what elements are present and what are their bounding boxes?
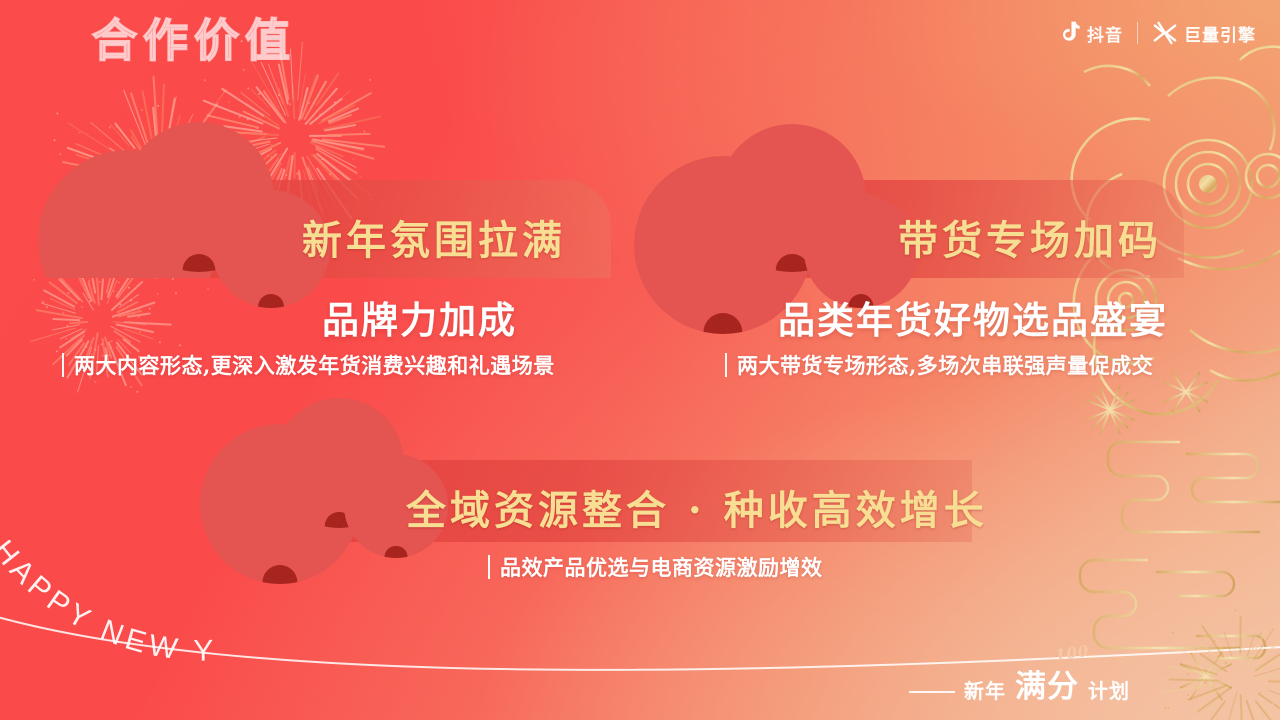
firework-ray	[75, 153, 117, 168]
firework-speck	[296, 173, 298, 175]
firework-speck	[1225, 662, 1227, 664]
firework-speck	[130, 299, 132, 301]
firework-speck	[213, 139, 215, 141]
firework-ray	[111, 301, 155, 317]
firework-ray	[240, 92, 270, 117]
firework-speck	[289, 103, 291, 105]
firework-ray	[83, 293, 95, 311]
firework-ray	[222, 131, 268, 135]
firework-speck	[179, 344, 181, 346]
firework-speck	[175, 292, 177, 294]
firework-speck	[235, 151, 237, 153]
firework-ray	[107, 279, 118, 304]
firework-speck	[1261, 610, 1263, 612]
firework-ray	[1258, 649, 1280, 671]
firework-ray	[293, 152, 295, 179]
firework-speck	[207, 288, 209, 290]
firework-speck	[117, 163, 119, 165]
firework-ray	[165, 97, 176, 148]
firework-ray	[1168, 665, 1216, 677]
firework-ray	[324, 141, 365, 152]
firework-ray	[1254, 628, 1274, 658]
firework-ray	[1205, 702, 1228, 720]
firework-ray	[257, 153, 277, 173]
firework-speck	[226, 167, 228, 169]
firework-speck	[1234, 610, 1236, 612]
firework-ray	[1268, 680, 1280, 682]
firework-ray	[1258, 693, 1280, 720]
firework-speck	[88, 280, 90, 282]
firework-ray	[182, 88, 227, 150]
page-title: 合作价值	[92, 12, 296, 70]
firework-ray	[68, 122, 125, 159]
firework-ray	[181, 123, 212, 157]
firework-ray	[109, 147, 139, 167]
firework-speck	[1272, 703, 1274, 705]
firework-ray	[1187, 685, 1228, 702]
firework-ray	[178, 114, 194, 144]
firework-ray	[110, 326, 140, 343]
firework-speck	[79, 132, 81, 134]
firework-ray	[305, 75, 317, 104]
firework-speck	[1272, 675, 1274, 677]
firework-ray	[223, 125, 263, 133]
firework-speck	[54, 139, 56, 141]
subtitle-text: 两大带货专场形态,多场次串联强声量促成交	[737, 350, 1153, 380]
firework-ray	[1197, 700, 1226, 720]
firework-speck	[101, 343, 103, 345]
firework-speck	[278, 94, 280, 96]
firework-ray	[1242, 708, 1247, 720]
logo-prefix: 新年	[964, 675, 1006, 704]
firework-speck	[67, 292, 69, 294]
ocean-engine-icon	[1152, 21, 1178, 45]
firework-ray	[242, 110, 280, 130]
firework-speck	[1213, 640, 1215, 642]
firework-speck	[204, 79, 206, 81]
firework-ray	[1246, 699, 1264, 720]
firework-ray	[1205, 698, 1222, 714]
firework-ray	[185, 103, 219, 148]
firework-ray	[70, 321, 89, 324]
firework-ray	[43, 289, 75, 308]
firework-ray	[297, 42, 303, 101]
firework-speck	[136, 391, 138, 393]
firework-speck	[1161, 693, 1163, 695]
firework-speck	[228, 101, 230, 103]
firework-ray	[248, 133, 279, 136]
firework-ray	[250, 88, 269, 108]
firework-ray	[189, 145, 244, 169]
firework-speck	[247, 119, 249, 121]
firework-speck	[56, 350, 58, 352]
firework-speck	[157, 137, 159, 139]
firework-ray	[315, 72, 339, 106]
firework-ray	[1241, 635, 1247, 664]
card-subtitle: 两大带货专场形态,多场次串联强声量促成交	[725, 350, 1153, 380]
firework-speck	[286, 174, 288, 176]
firework-ray	[169, 131, 182, 159]
ocean-engine-logo: 巨量引擎	[1152, 21, 1256, 46]
firework-ray	[216, 140, 271, 154]
firework-speck	[130, 386, 132, 388]
firework-speck	[1167, 707, 1169, 709]
firework-ray	[310, 81, 327, 109]
firework-speck	[128, 287, 130, 289]
firework-speck	[137, 308, 139, 310]
firework-ray	[70, 328, 87, 339]
firework-speck	[267, 155, 269, 157]
firework-speck	[56, 113, 58, 115]
firework-ray	[1239, 694, 1243, 720]
firework-speck	[99, 281, 101, 283]
firework-speck	[334, 101, 336, 103]
firework-speck	[42, 301, 44, 303]
firework-speck	[141, 109, 143, 111]
firework-speck	[109, 126, 111, 128]
firework-ray	[1199, 685, 1230, 700]
auspicious-cloud-icon	[1080, 442, 1280, 658]
firework-speck	[359, 176, 361, 178]
firework-speck	[335, 120, 337, 122]
firework-speck	[270, 156, 272, 158]
logo-main: 满分 100	[1015, 661, 1079, 706]
firework-speck	[352, 158, 354, 160]
firework-speck	[33, 279, 35, 281]
firework-ray	[1253, 705, 1273, 720]
firework-speck	[1181, 626, 1183, 628]
firework-speck	[1164, 707, 1166, 709]
firework-speck	[1233, 655, 1235, 657]
firework-ray	[41, 303, 76, 314]
firework-ray	[1268, 690, 1280, 701]
firework-speck	[271, 144, 273, 146]
firework-ray	[75, 143, 122, 164]
firework-ray	[315, 146, 356, 168]
firework-speck	[1170, 704, 1172, 706]
firework-ray	[224, 137, 277, 145]
firework-ray	[203, 99, 264, 125]
firework-ray	[219, 143, 270, 161]
firework-speck	[81, 306, 83, 308]
firework-ray	[210, 103, 262, 123]
fan-hub	[108, 308, 148, 330]
firework-ray	[189, 136, 234, 164]
logo-100-badge: 100	[1054, 642, 1090, 665]
firework-ray	[35, 309, 83, 320]
ocean-engine-label: 巨量引擎	[1184, 21, 1256, 46]
firework-speck	[113, 290, 115, 292]
firework-ray	[130, 92, 149, 146]
firework-ray	[1207, 624, 1232, 667]
firework-ray	[1224, 691, 1238, 720]
firework-ray	[174, 145, 203, 169]
firework-speck	[263, 99, 265, 101]
firework-speck	[133, 314, 135, 316]
firework-ray	[312, 138, 365, 150]
firework-ray	[60, 328, 83, 339]
firework-ray	[255, 86, 285, 123]
firework-ray	[1259, 701, 1280, 720]
slide-canvas: 合作价值 抖音 巨量引擎 新年氛围拉满 品牌力加成	[0, 0, 1280, 720]
firework-ray	[309, 135, 342, 137]
firework-speck	[65, 338, 67, 340]
firework-ray	[53, 324, 80, 330]
firework-ray	[123, 328, 153, 339]
firework-ray	[237, 137, 276, 143]
douyin-note-icon	[1059, 21, 1081, 45]
firework-speck	[68, 147, 70, 149]
firework-ray	[221, 87, 265, 117]
logo-suffix: 计划	[1088, 675, 1130, 704]
firework-speck	[1257, 654, 1259, 656]
firework-ray	[231, 148, 273, 172]
fan-hub	[703, 313, 742, 334]
firework-ray	[129, 129, 151, 166]
firework-ray	[261, 62, 287, 116]
firework-speck	[233, 135, 235, 137]
firework-speck	[194, 161, 196, 163]
firework-ray	[311, 140, 374, 160]
firework-ray	[111, 281, 144, 312]
firework-speck	[149, 308, 151, 310]
card-gold-title: 带货专场加码	[898, 208, 1162, 266]
firework-speck	[319, 113, 321, 115]
firework-speck	[115, 126, 117, 128]
firework-speck	[159, 341, 161, 343]
firework-ray	[131, 136, 151, 166]
firework-speck	[111, 340, 113, 342]
firework-ray	[225, 141, 281, 168]
firework-ray	[1200, 642, 1225, 666]
firework-ray	[206, 114, 259, 129]
firework-ray	[116, 277, 134, 299]
firework-ray	[1231, 639, 1236, 660]
sparkle-icon	[1084, 368, 1232, 704]
firework-ray	[318, 90, 351, 117]
firework-speck	[207, 158, 209, 160]
firework-speck	[1219, 664, 1221, 666]
firework-ray	[1180, 663, 1218, 675]
firework-speck	[329, 173, 331, 175]
campaign-logo: 新年 满分 100 计划	[909, 661, 1130, 706]
firework-speck	[235, 144, 237, 146]
firework-ray	[114, 122, 136, 149]
firework-speck	[59, 153, 61, 155]
firework-ray	[328, 113, 353, 124]
firework-ray	[119, 289, 135, 304]
firework-ray	[327, 107, 359, 122]
firework-speck	[62, 312, 64, 314]
firework-speck	[333, 108, 335, 110]
firework-speck	[223, 128, 225, 130]
firework-speck	[138, 316, 140, 318]
firework-speck	[237, 155, 239, 157]
firework-speck	[46, 306, 48, 308]
firework-speck	[369, 79, 371, 81]
subtitle-text: 两大内容形态,更深入激发年货消费兴趣和礼遇场景	[74, 350, 555, 380]
firework-ray	[124, 321, 172, 326]
firework-ray	[116, 323, 154, 332]
firework-ray	[30, 327, 76, 342]
firework-burst-icon	[1150, 590, 1280, 720]
firework-ray	[245, 102, 280, 126]
fan-hub	[258, 294, 284, 308]
firework-ray	[67, 147, 123, 169]
firework-ray	[315, 147, 358, 174]
firework-speck	[321, 158, 323, 160]
firework-ray	[1246, 628, 1268, 669]
firework-speck	[58, 244, 60, 246]
firework-ray	[322, 138, 385, 147]
douyin-logo: 抖音	[1059, 21, 1123, 46]
firework-speck	[157, 105, 159, 107]
firework-speck	[185, 152, 187, 154]
firework-ray	[327, 133, 371, 136]
fan-hub	[385, 546, 408, 558]
brand-bar: 抖音 巨量引擎	[1059, 18, 1256, 48]
firework-speck	[308, 102, 310, 104]
firework-ray	[1199, 653, 1227, 673]
firework-speck	[89, 300, 91, 302]
firework-speck	[61, 199, 63, 201]
firework-speck	[85, 346, 87, 348]
firework-ray	[292, 84, 295, 119]
firework-ray	[316, 153, 351, 182]
firework-ray	[318, 104, 356, 125]
subtitle-tick	[725, 353, 727, 377]
subtitle-text: 品效产品优选与电商资源激励增效	[500, 552, 823, 582]
firework-ray	[1239, 615, 1241, 653]
firework-ray	[304, 88, 338, 126]
firework-ray	[58, 330, 85, 349]
firework-speck	[1259, 692, 1261, 694]
firework-ray	[123, 90, 148, 149]
card-gold-title: 新年氛围拉满	[302, 208, 566, 266]
firework-ray	[142, 91, 154, 146]
firework-ray	[62, 161, 128, 176]
firework-speck	[352, 146, 354, 148]
firework-ray	[1197, 687, 1231, 713]
firework-ray	[113, 321, 147, 325]
card-white-heading: 品牌力加成	[322, 290, 517, 344]
firework-speck	[94, 381, 96, 383]
firework-ray	[1252, 634, 1280, 669]
firework-ray	[88, 282, 96, 304]
firework-ray	[283, 155, 291, 180]
firework-ray	[303, 80, 326, 120]
subtitle-tick	[62, 353, 64, 377]
firework-ray	[1265, 693, 1280, 714]
card-white-heading: 品类年货好物选品盛宴	[778, 290, 1168, 344]
firework-ray	[1255, 653, 1280, 672]
firework-ray	[307, 93, 333, 122]
firework-speck	[119, 303, 121, 305]
firework-ray	[1254, 700, 1279, 720]
firework-speck	[323, 121, 325, 123]
firework-ray	[49, 298, 75, 311]
subtitle-tick	[488, 555, 490, 579]
firework-ray	[1262, 684, 1280, 693]
firework-speck	[67, 325, 69, 327]
firework-ray	[277, 88, 289, 118]
firework-speck	[1261, 670, 1263, 672]
firework-ray	[181, 169, 245, 180]
firework-ray	[127, 312, 151, 317]
brand-divider	[1137, 22, 1138, 44]
firework-ray	[298, 73, 306, 112]
firework-ray	[1201, 625, 1225, 658]
firework-ray	[1173, 646, 1220, 671]
firework-speck	[223, 90, 225, 92]
firework-speck	[241, 133, 243, 135]
firework-speck	[1203, 634, 1205, 636]
logo-main-text: 满分	[1015, 669, 1079, 705]
firework-ray	[118, 310, 143, 318]
firework-speck	[1260, 633, 1262, 635]
firework-ray	[153, 76, 159, 148]
firework-speck	[1187, 694, 1189, 696]
firework-speck	[363, 131, 365, 133]
firework-ray	[69, 172, 121, 178]
firework-ray	[58, 278, 81, 301]
firework-speck	[139, 331, 141, 333]
firework-ray	[1223, 631, 1232, 657]
firework-ray	[262, 89, 287, 124]
firework-ray	[116, 301, 138, 313]
firework-speck	[256, 127, 258, 129]
firework-speck	[1172, 632, 1174, 634]
firework-ray	[298, 87, 308, 121]
card-subtitle: 品效产品优选与电商资源激励增效	[488, 552, 823, 582]
firework-ray	[110, 123, 130, 146]
firework-ray	[1253, 667, 1280, 678]
firework-ray	[187, 167, 240, 177]
firework-ray	[100, 278, 104, 300]
firework-speck	[1195, 648, 1197, 650]
firework-ray	[1162, 684, 1215, 694]
firework-speck	[67, 271, 69, 273]
firework-speck	[128, 321, 130, 323]
firework-ray	[53, 318, 81, 322]
firework-ray	[48, 281, 78, 304]
firework-ray	[177, 134, 221, 169]
firework-ray	[179, 160, 241, 178]
firework-ray	[1256, 671, 1280, 680]
firework-speck	[247, 87, 249, 89]
firework-ray	[119, 294, 140, 308]
card-gold-title: 全域资源整合 · 种收高效增长	[406, 478, 988, 536]
firework-ray	[300, 74, 319, 120]
firework-ray	[1229, 709, 1236, 720]
firework-ray	[169, 116, 181, 150]
firework-ray	[322, 115, 381, 130]
firework-speck	[1252, 647, 1254, 649]
firework-ray	[1247, 637, 1254, 657]
happy-new-year-text: HAPPY NEW YEAR	[0, 540, 286, 710]
firework-speck	[1190, 620, 1192, 622]
firework-ray	[321, 92, 373, 122]
firework-ray	[1168, 678, 1219, 681]
firework-speck	[118, 282, 120, 284]
firework-speck	[309, 92, 311, 94]
firework-speck	[258, 93, 260, 95]
firework-ray	[309, 141, 343, 157]
firework-ray	[324, 124, 355, 132]
firework-ray	[113, 330, 132, 344]
logo-dash	[909, 691, 955, 693]
firework-ray	[152, 107, 158, 144]
